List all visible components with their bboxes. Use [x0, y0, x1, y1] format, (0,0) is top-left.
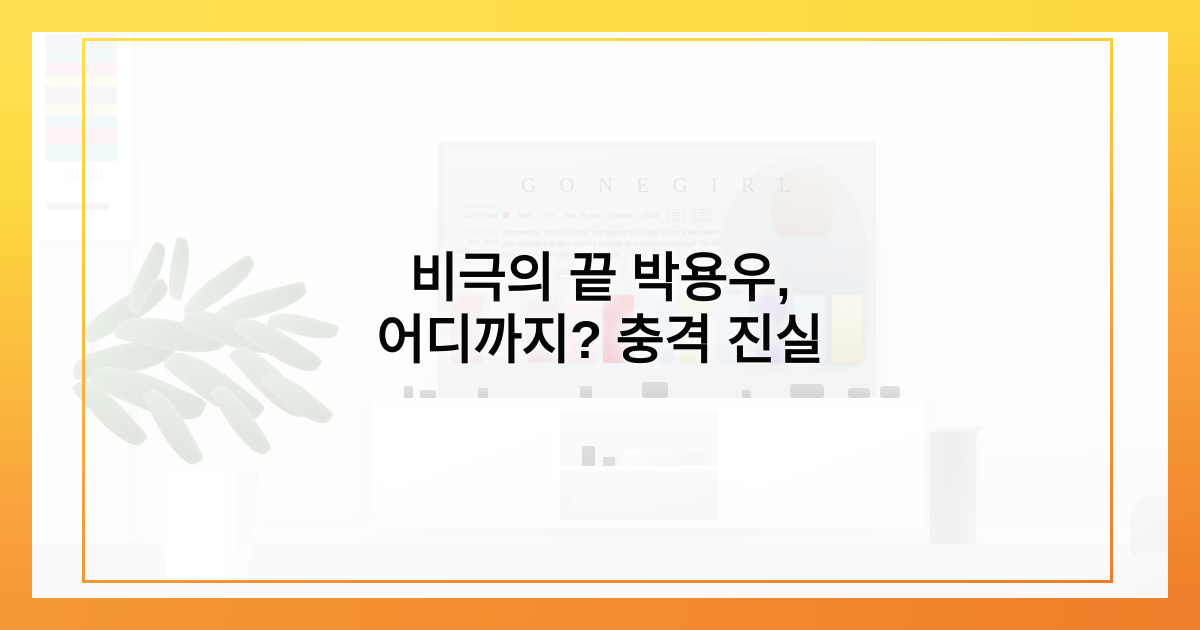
tv-description: Directed by David Fincher and based on G…	[503, 228, 722, 259]
device-on-stand	[848, 388, 870, 398]
potted-plant	[72, 258, 372, 558]
tv-meta-row: 88% 17+ 2 hr 29 min Drama 2014 HD CC	[503, 209, 711, 221]
poster-thumb[interactable]	[832, 295, 863, 363]
small-device-box	[603, 457, 615, 466]
tv-stand-top	[372, 398, 924, 405]
tv-year: 2014	[642, 211, 659, 220]
thumbnail-canvas: G O N E G I R L DIRECTOR David Fincher S…	[0, 0, 1200, 630]
poster-thumb[interactable]	[794, 295, 825, 363]
artwork-caption	[47, 203, 109, 210]
cc-badge: CC	[694, 209, 711, 221]
tv-more-link[interactable]: more	[628, 250, 645, 259]
tv-score: 88%	[518, 211, 533, 220]
television: G O N E G I R L DIRECTOR David Fincher S…	[438, 142, 876, 414]
credit-value: David Fincher	[449, 213, 499, 223]
tv-screen: G O N E G I R L DIRECTOR David Fincher S…	[443, 147, 871, 409]
stand-door-right[interactable]	[742, 410, 916, 522]
media-console-device	[619, 450, 708, 467]
device-on-stand	[642, 382, 668, 398]
provider-chip[interactable]: iTunes	[548, 269, 576, 279]
remote-control[interactable]	[582, 446, 595, 466]
device-on-stand	[478, 388, 488, 398]
poster-thumb[interactable]	[756, 295, 787, 363]
armchair-back	[1130, 495, 1186, 557]
tv-description-block: Directed by David Fincher and based on G…	[503, 227, 733, 260]
poster-thumb[interactable]	[718, 295, 749, 363]
tv-duration: 2 hr 29 min	[564, 211, 602, 220]
poster-thumb[interactable]	[603, 295, 634, 363]
available-on-label: Available On:	[503, 271, 542, 278]
device-on-stand	[790, 384, 824, 398]
poster-thumb[interactable]	[680, 295, 711, 363]
credit-value: Ben Affleck	[449, 239, 499, 249]
device-on-stand	[580, 386, 592, 398]
poster-thumb[interactable]	[489, 295, 520, 363]
poster-thumb[interactable]	[565, 295, 596, 363]
stand-open-shelf	[560, 410, 718, 520]
provider-chip[interactable]: HBO	[581, 269, 604, 279]
tv-rating: 17+	[542, 211, 555, 220]
tv-row-label: Recommended	[453, 283, 497, 290]
credit-value: Neil Patrick Harris	[449, 258, 499, 268]
shelf-divider	[560, 466, 718, 473]
artwork-stripes	[45, 0, 117, 161]
device-on-stand	[742, 390, 751, 398]
score-indicator-icon	[503, 212, 509, 218]
plant-pot	[148, 470, 266, 580]
stand-door-left[interactable]	[380, 410, 554, 522]
device-on-stand	[880, 386, 900, 398]
credit-value: Rosamund Pike	[449, 248, 499, 258]
hd-badge: HD	[667, 209, 684, 221]
credit-key: DIRECTOR	[449, 203, 499, 213]
device-on-stand	[420, 390, 436, 398]
framed-artwork	[36, 0, 134, 242]
armchair-seat	[1134, 552, 1186, 596]
floor-speaker	[930, 432, 976, 544]
poster-thumb[interactable]	[451, 295, 482, 363]
poster-thumb[interactable]	[527, 295, 558, 363]
tv-genre: Drama	[610, 211, 633, 220]
tv-availability: Available On: iTunes HBO	[503, 269, 604, 279]
poster-thumb[interactable]	[641, 295, 672, 363]
living-room-photo: G O N E G I R L DIRECTOR David Fincher S…	[0, 0, 1200, 630]
tv-poster-row	[443, 295, 871, 367]
device-on-stand	[404, 386, 413, 398]
tv-credits: DIRECTOR David Fincher STARRING Ben Affl…	[449, 203, 499, 267]
artwork-signature	[61, 170, 105, 179]
shelf-lower-item	[570, 484, 697, 510]
stand-shadow	[380, 528, 920, 544]
tv-stand	[372, 398, 924, 530]
credit-key: STARRING	[449, 229, 499, 239]
tv-movie-title: G O N E G I R L	[521, 173, 800, 198]
